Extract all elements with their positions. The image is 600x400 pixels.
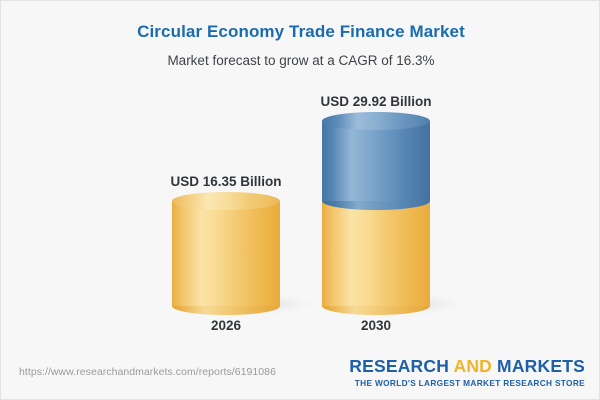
bar-segment-yellow: [322, 201, 430, 306]
bar-value-label-2026: USD 16.35 Billion: [146, 174, 306, 189]
logo-wordmark: RESEARCH AND MARKETS: [349, 356, 585, 376]
chart-plot-area: USD 16.35 Billion 2026 USD 29.92 Billion: [1, 86, 600, 346]
cylinder-body: [322, 121, 430, 201]
brand-logo: RESEARCH AND MARKETS THE WORLD'S LARGEST…: [349, 356, 585, 389]
category-label-2026: 2026: [146, 318, 306, 333]
chart-footer: https://www.researchandmarkets.com/repor…: [1, 349, 600, 399]
cylinder-2026: [172, 201, 280, 306]
chart-header: Circular Economy Trade Finance Market Ma…: [1, 1, 600, 70]
chart-subtitle: Market forecast to grow at a CAGR of 16.…: [1, 52, 600, 70]
cylinder-body: [322, 201, 430, 306]
bar-value-label-2030: USD 29.92 Billion: [296, 94, 456, 109]
logo-text-research: RESEARCH: [349, 356, 453, 376]
bar-segment-blue: [322, 121, 430, 201]
bar-group-2026: USD 16.35 Billion 2026: [146, 86, 306, 346]
source-url[interactable]: https://www.researchandmarkets.com/repor…: [19, 366, 276, 378]
logo-tagline: THE WORLD'S LARGEST MARKET RESEARCH STOR…: [349, 378, 585, 389]
cylinder-top-cap: [322, 112, 430, 130]
bar-segment-yellow: [172, 201, 280, 306]
category-label-2030: 2030: [296, 318, 456, 333]
logo-text-and: AND: [453, 356, 492, 376]
cylinder-2030: [322, 121, 430, 306]
logo-text-markets: MARKETS: [492, 356, 585, 376]
page-title: Circular Economy Trade Finance Market: [1, 21, 600, 43]
cylinder-body: [172, 201, 280, 306]
chart-card: Circular Economy Trade Finance Market Ma…: [0, 0, 600, 400]
cylinder-top-cap: [172, 192, 280, 210]
bar-group-2030: USD 29.92 Billion 2030: [296, 86, 456, 346]
